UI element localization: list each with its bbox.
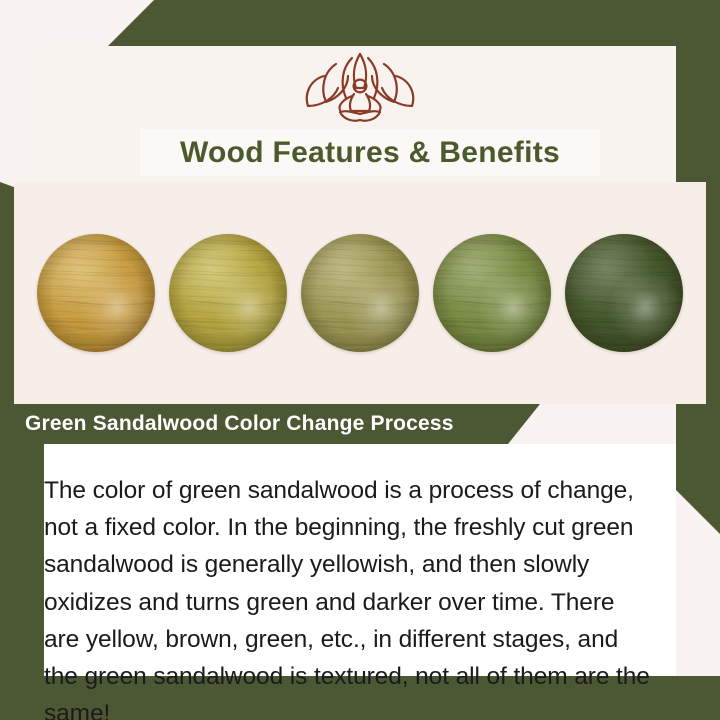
body-paragraph: The color of green sandalwood is a proce… xyxy=(44,472,654,720)
bead-specular-highlight xyxy=(433,234,551,352)
bead-specular-highlight xyxy=(565,234,683,352)
lotus-meditation-icon xyxy=(294,50,426,126)
bead-stage-3-olive-khaki xyxy=(301,234,419,352)
bead-specular-highlight xyxy=(169,234,287,352)
page-title-box: Wood Features & Benefits xyxy=(140,129,600,176)
page-title: Wood Features & Benefits xyxy=(180,136,560,170)
section-banner: Green Sandalwood Color Change Process xyxy=(0,404,540,444)
poster-root: BUDDHA STONES Wood Features & Benefits G… xyxy=(0,0,720,720)
section-banner-label: Green Sandalwood Color Change Process xyxy=(25,412,454,436)
frame-border-top xyxy=(0,0,720,46)
bead-specular-highlight xyxy=(37,234,155,352)
bead-showcase-band xyxy=(14,182,706,404)
bead-row xyxy=(14,182,706,404)
bead-stage-1-golden-yellow xyxy=(37,234,155,352)
bead-stage-4-medium-green xyxy=(433,234,551,352)
body-panel: The color of green sandalwood is a proce… xyxy=(44,444,676,676)
bead-stage-2-yellow-olive xyxy=(169,234,287,352)
bead-specular-highlight xyxy=(301,234,419,352)
bead-stage-5-dark-green xyxy=(565,234,683,352)
